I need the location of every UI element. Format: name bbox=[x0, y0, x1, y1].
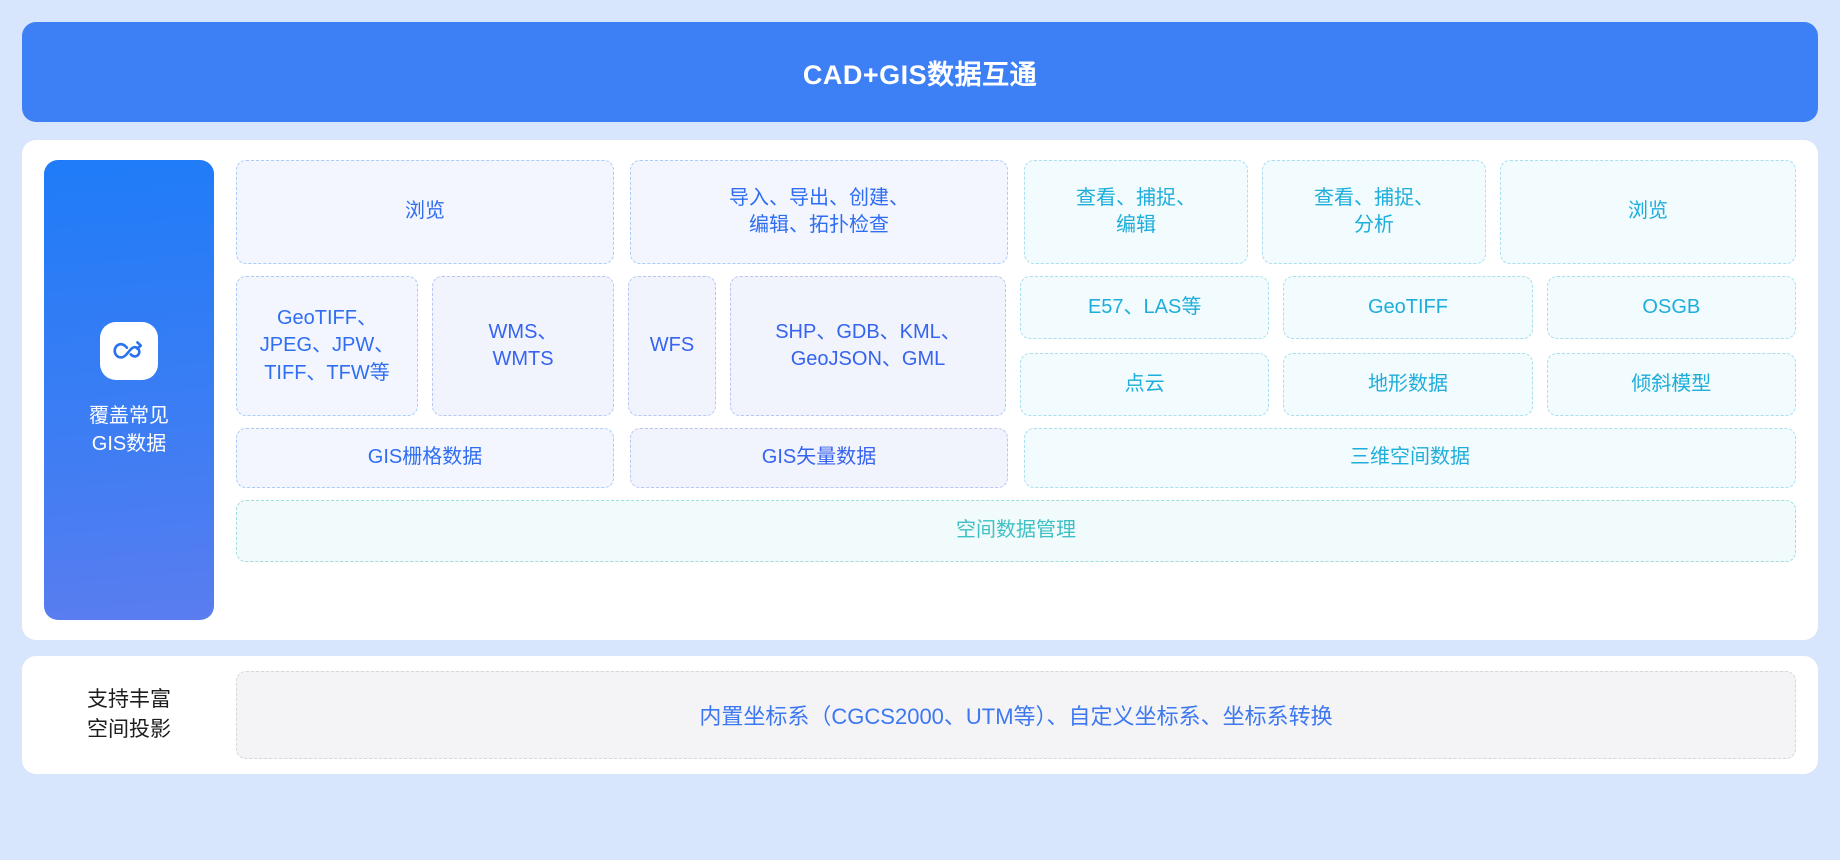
raster-format-card-1[interactable]: GeoTIFF、 JPEG、JPW、 TIFF、TFW等 bbox=[236, 276, 418, 416]
projection-label: 支持丰富 空间投影 bbox=[44, 685, 214, 745]
sidebar-label-line2: GIS数据 bbox=[89, 430, 169, 458]
threed-format-card-3b[interactable]: 倾斜模型 bbox=[1547, 353, 1796, 416]
threed-format-card-1b[interactable]: 点云 bbox=[1020, 353, 1269, 416]
vector-operations-col: 导入、导出、创建、 编辑、拓扑检查 bbox=[630, 160, 1008, 264]
spatial-data-management-card[interactable]: 空间数据管理 bbox=[236, 500, 1796, 562]
infinity-sync-icon bbox=[100, 322, 158, 380]
threed-format-card-2b[interactable]: 地形数据 bbox=[1283, 353, 1532, 416]
threed-format-col-3: OSGB 倾斜模型 bbox=[1547, 276, 1796, 416]
threed-operations-row: 查看、捕捉、 编辑 查看、捕捉、 分析 浏览 bbox=[1024, 160, 1796, 264]
raster-category-card[interactable]: GIS栅格数据 bbox=[236, 428, 614, 488]
threed-operations-col: 查看、捕捉、 编辑 查看、捕捉、 分析 浏览 bbox=[1024, 160, 1796, 264]
threed-operations-card-1[interactable]: 查看、捕捉、 编辑 bbox=[1024, 160, 1248, 264]
threed-format-card-2a[interactable]: GeoTIFF bbox=[1283, 276, 1532, 339]
vector-format-card-2[interactable]: SHP、GDB、KML、 GeoJSON、GML bbox=[730, 276, 1006, 416]
capability-grid: 浏览 导入、导出、创建、 编辑、拓扑检查 查看、捕捉、 编辑 查看、捕捉、 分析… bbox=[236, 160, 1796, 620]
raster-category-col: GIS栅格数据 bbox=[236, 428, 614, 488]
threed-format-col-1: E57、LAS等 点云 bbox=[1020, 276, 1269, 416]
vector-formats-col: WFS SHP、GDB、KML、 GeoJSON、GML bbox=[628, 276, 1006, 416]
threed-format-card-1a[interactable]: E57、LAS等 bbox=[1020, 276, 1269, 339]
vector-operations-card[interactable]: 导入、导出、创建、 编辑、拓扑检查 bbox=[630, 160, 1008, 264]
raster-operations-card[interactable]: 浏览 bbox=[236, 160, 614, 264]
header-bar: CAD+GIS数据互通 bbox=[22, 22, 1818, 122]
operations-row: 浏览 导入、导出、创建、 编辑、拓扑检查 查看、捕捉、 编辑 查看、捕捉、 分析… bbox=[236, 160, 1796, 264]
vector-format-card-1[interactable]: WFS bbox=[628, 276, 716, 416]
threed-formats-grid: E57、LAS等 点云 GeoTIFF 地形数据 OSGB 倾斜模型 bbox=[1020, 276, 1796, 416]
vector-category-card[interactable]: GIS矢量数据 bbox=[630, 428, 1008, 488]
vector-category-col: GIS矢量数据 bbox=[630, 428, 1008, 488]
diagram-root: CAD+GIS数据互通 覆盖常见 GIS数据 浏览 bbox=[0, 0, 1840, 860]
raster-format-card-2[interactable]: WMS、 WMTS bbox=[432, 276, 614, 416]
threed-category-col: 三维空间数据 bbox=[1024, 428, 1796, 488]
sidebar-gis-coverage-tile: 覆盖常见 GIS数据 bbox=[44, 160, 214, 620]
threed-operations-card-2[interactable]: 查看、捕捉、 分析 bbox=[1262, 160, 1486, 264]
threed-format-col-2: GeoTIFF 地形数据 bbox=[1283, 276, 1532, 416]
threed-operations-card-3[interactable]: 浏览 bbox=[1500, 160, 1796, 264]
sidebar-label: 覆盖常见 GIS数据 bbox=[89, 402, 169, 459]
manage-row: 空间数据管理 bbox=[236, 500, 1796, 562]
sidebar-label-line1: 覆盖常见 bbox=[89, 402, 169, 430]
threed-format-card-3a[interactable]: OSGB bbox=[1547, 276, 1796, 339]
projection-label-line1: 支持丰富 bbox=[44, 685, 214, 715]
projection-panel: 支持丰富 空间投影 内置坐标系（CGCS2000、UTM等）、自定义坐标系、坐标… bbox=[22, 656, 1818, 774]
page-title: CAD+GIS数据互通 bbox=[803, 53, 1037, 92]
categories-row: GIS栅格数据 GIS矢量数据 三维空间数据 bbox=[236, 428, 1796, 488]
main-panel: 覆盖常见 GIS数据 浏览 导入、导出、创建、 编辑、拓扑检查 查看、捕捉、 编… bbox=[22, 140, 1818, 640]
threed-formats-col: E57、LAS等 点云 GeoTIFF 地形数据 OSGB 倾斜模型 bbox=[1020, 276, 1796, 416]
raster-formats-col: GeoTIFF、 JPEG、JPW、 TIFF、TFW等 WMS、 WMTS bbox=[236, 276, 614, 416]
threed-category-card[interactable]: 三维空间数据 bbox=[1024, 428, 1796, 488]
raster-operations-col: 浏览 bbox=[236, 160, 614, 264]
formats-row: GeoTIFF、 JPEG、JPW、 TIFF、TFW等 WMS、 WMTS W… bbox=[236, 276, 1796, 416]
projection-banner[interactable]: 内置坐标系（CGCS2000、UTM等）、自定义坐标系、坐标系转换 bbox=[236, 671, 1796, 759]
projection-label-line2: 空间投影 bbox=[44, 715, 214, 745]
